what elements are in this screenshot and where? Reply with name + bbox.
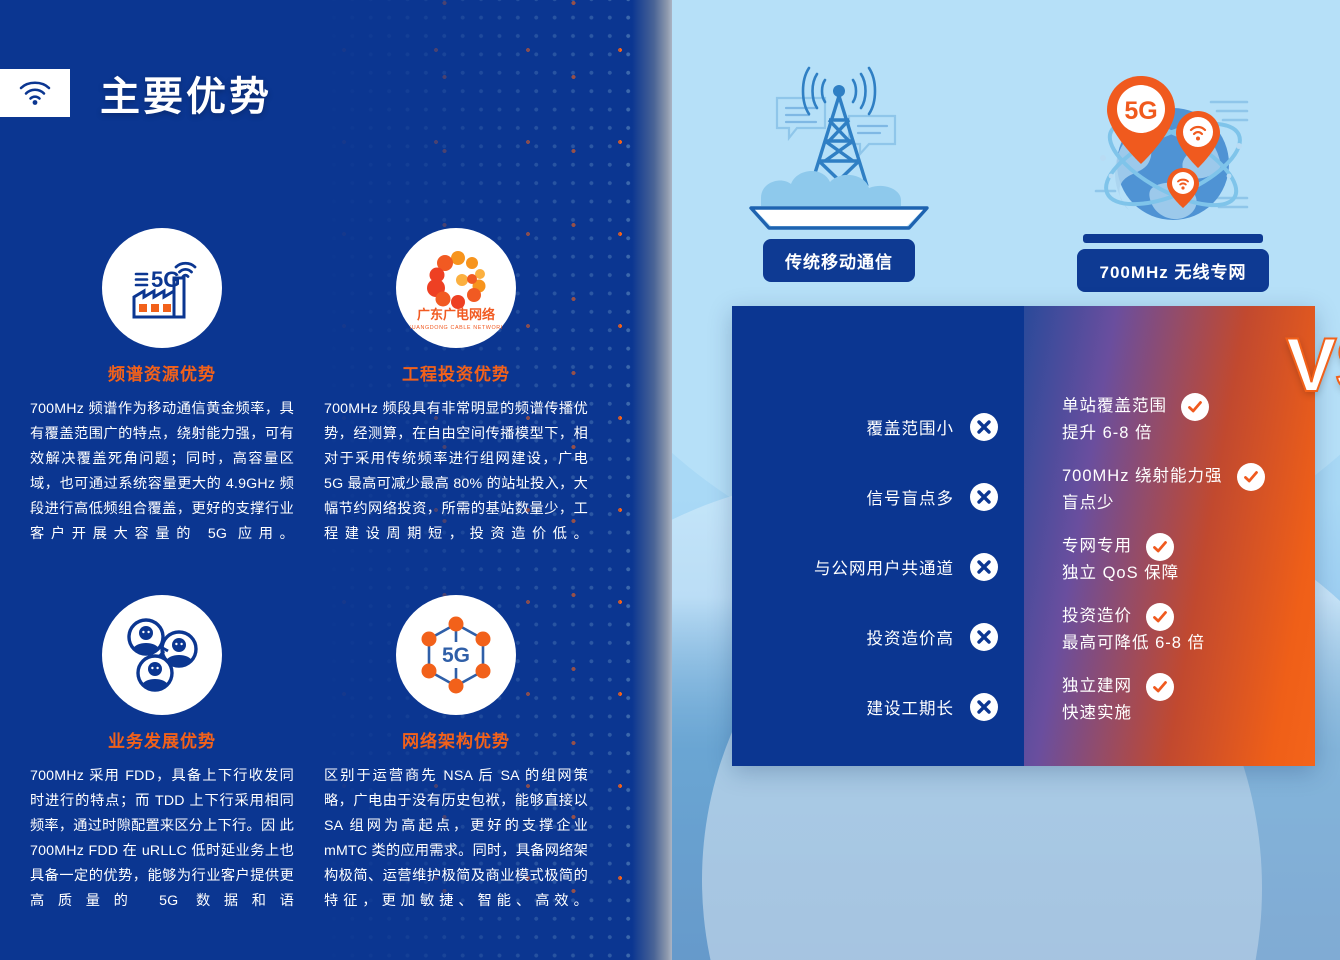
comparison-right-label-line2: 最高可降低 6-8 倍: [1062, 631, 1315, 656]
card-engineering-investment-advantage: 广东广电网络 GUANGDONG CABLE NETWORK 工程投资优势 70…: [306, 228, 606, 547]
check-icon: [1181, 393, 1209, 421]
cross-icon: [970, 623, 998, 651]
comparison-left-label: 信号盲点多: [867, 485, 955, 509]
comparison-left-label: 与公网用户共通道: [814, 555, 954, 579]
svg-text:GUANGDONG CABLE NETWORK: GUANGDONG CABLE NETWORK: [410, 325, 502, 331]
comparison-row: 独立建网 快速实施: [1024, 664, 1315, 734]
page-title: 主要优势: [100, 64, 272, 122]
comparison-right-label-line2: 盲点少: [1062, 491, 1315, 516]
svg-text:5G: 5G: [1124, 97, 1157, 125]
cell-tower-icon: [729, 58, 949, 233]
card-body: 700MHz 频谱作为移动通信黄金频率，具有覆盖范围广的特点，绕射能力强，可有效…: [20, 397, 304, 547]
comparison-row: 单站覆盖范围 提升 6-8 倍: [1024, 384, 1315, 454]
comparison-left-label: 建设工期长: [867, 695, 955, 719]
right-panel: 传统移动通信: [672, 0, 1340, 960]
card-body: 700MHz 采用 FDD，具备上下行收发同时进行的特点；而 TDD 上下行采用…: [20, 764, 304, 914]
illustration-row: 传统移动通信: [672, 58, 1340, 292]
illustration-label-private-network: 700MHz 无线专网: [1077, 249, 1268, 292]
comparison-left-label: 投资造价高: [867, 625, 955, 649]
card-business-development-advantage: 业务发展优势 700MHz 采用 FDD，具备上下行收发同时进行的特点；而 TD…: [12, 595, 312, 914]
comparison-row: 覆盖范围小: [732, 392, 1024, 462]
wifi-icon: [0, 69, 70, 117]
cross-icon: [970, 413, 998, 441]
comparison-row: 700MHz 绕射能力强 盲点少: [1024, 454, 1315, 524]
cross-icon: [970, 693, 998, 721]
comparison-right-items: 单站覆盖范围 提升 6-8 倍 700MHz 绕射能力强: [1024, 384, 1315, 734]
comparison-right-label-line2: 快速实施: [1062, 701, 1315, 726]
illustration-label-traditional: 传统移动通信: [763, 239, 915, 282]
infographic-page: 主要优势: [0, 0, 1340, 960]
comparison-right-label-line1: 700MHz 绕射能力强: [1062, 464, 1223, 489]
card-row-bottom: 业务发展优势 700MHz 采用 FDD，具备上下行收发同时进行的特点；而 TD…: [0, 595, 632, 914]
svg-text:广东广电网络: 广东广电网络: [417, 307, 495, 323]
comparison-row: 与公网用户共通道: [732, 532, 1024, 602]
factory-5g-icon: 5G: [102, 228, 222, 348]
check-icon: [1146, 533, 1174, 561]
vs-label: VS: [1286, 322, 1340, 409]
card-body: 区别于运营商先 NSA 后 SA 的组网策略，广电由于没有历史包袱，能够直接以 …: [314, 764, 598, 914]
illustration-private-network: 5G: [1006, 58, 1340, 292]
comparison-right-label-line1: 专网专用: [1062, 534, 1132, 559]
page-header: 主要优势: [0, 64, 272, 122]
illustration-traditional: 传统移动通信: [672, 58, 1006, 292]
comparison-table: 覆盖范围小 信号盲点多 与公网用户共通道: [732, 306, 1315, 766]
card-body: 700MHz 频段具有非常明显的频谱传播优势，经测算，在自由空间传播模型下，相对…: [314, 397, 598, 547]
svg-text:5G: 5G: [442, 644, 470, 667]
check-icon: [1237, 463, 1265, 491]
card-title: 业务发展优势: [20, 727, 304, 752]
card-title: 工程投资优势: [314, 360, 598, 385]
cross-icon: [970, 553, 998, 581]
comparison-right-label-line1: 单站覆盖范围: [1062, 394, 1167, 419]
comparison-column-traditional: 覆盖范围小 信号盲点多 与公网用户共通道: [732, 306, 1024, 766]
comparison-left-items: 覆盖范围小 信号盲点多 与公网用户共通道: [732, 392, 1024, 742]
left-panel: 主要优势: [0, 0, 632, 960]
card-row-top: 5G 频谱资源优势 700MHz 频谱作为移动通信黄金频率，具有覆盖范围广的特点…: [0, 228, 632, 547]
comparison-right-label-line2: 独立 QoS 保障: [1062, 561, 1315, 586]
comparison-row: 建设工期长: [732, 672, 1024, 742]
globe-5g-pin-icon: 5G: [1063, 58, 1283, 236]
user-group-icon: [102, 595, 222, 715]
comparison-column-private: VS 单站覆盖范围 提升 6-8 倍 700MHz 绕射能力: [1024, 306, 1315, 766]
advantage-cards: 5G 频谱资源优势 700MHz 频谱作为移动通信黄金频率，具有覆盖范围广的特点…: [0, 228, 632, 914]
comparison-row: 投资造价高: [732, 602, 1024, 672]
comparison-right-label-line1: 独立建网: [1062, 674, 1132, 699]
card-title: 频谱资源优势: [20, 360, 304, 385]
check-icon: [1146, 603, 1174, 631]
comparison-row: 专网专用 独立 QoS 保障: [1024, 524, 1315, 594]
guangdong-cable-network-logo-icon: 广东广电网络 GUANGDONG CABLE NETWORK: [396, 228, 516, 348]
illustration-base-bar: [1083, 234, 1263, 243]
comparison-left-label: 覆盖范围小: [867, 415, 955, 439]
comparison-row: 信号盲点多: [732, 462, 1024, 532]
comparison-row: 投资造价 最高可降低 6-8 倍: [1024, 594, 1315, 664]
card-title: 网络架构优势: [314, 727, 598, 752]
page-fold-shadow: [632, 0, 672, 960]
network-hex-5g-icon: 5G: [396, 595, 516, 715]
card-spectrum-advantage: 5G 频谱资源优势 700MHz 频谱作为移动通信黄金频率，具有覆盖范围广的特点…: [12, 228, 312, 547]
check-icon: [1146, 673, 1174, 701]
comparison-right-label-line1: 投资造价: [1062, 604, 1132, 629]
card-network-architecture-advantage: 5G 网络架构优势 区别于运营商先 NSA 后 SA 的组网策略，广电由于没有历…: [306, 595, 606, 914]
cross-icon: [970, 483, 998, 511]
comparison-right-label-line2: 提升 6-8 倍: [1062, 421, 1315, 446]
